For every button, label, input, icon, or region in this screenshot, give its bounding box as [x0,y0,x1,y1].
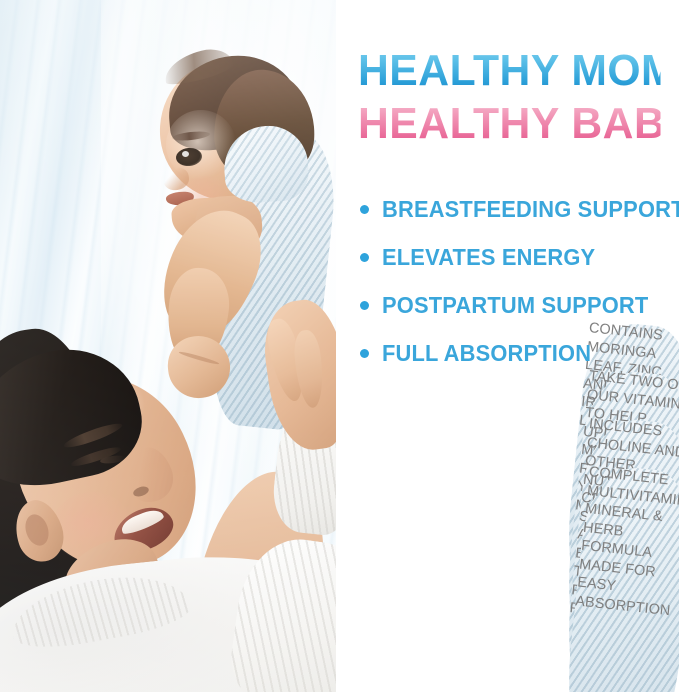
bullet-dot-icon [360,205,369,214]
headline-line-mom: HEALTHY MOM [358,44,661,97]
benefit-title: ELEVATES ENERGY [382,244,661,270]
bullet-dot-icon [360,301,369,310]
baby-eye-highlight [182,151,189,157]
benefit-item: ELEVATES ENERGY TAKE TWO OF OUR VITAMINS… [358,244,676,270]
headline: HEALTHY MOM HEALTHY BABY [358,44,670,150]
benefit-title: POSTPARTUM SUPPORT [382,292,661,318]
product-infographic: HEALTHY MOM HEALTHY BABY BREASTFEEDING S… [0,0,679,692]
mother-and-baby-photo [0,0,336,692]
benefit-list: BREASTFEEDING SUPPORT CONTAINS MORINGA L… [358,196,676,370]
headline-line-baby: HEALTHY BABY [358,97,661,150]
benefit-item: BREASTFEEDING SUPPORT CONTAINS MORINGA L… [358,196,676,222]
bullet-dot-icon [360,253,369,262]
benefit-item: FULL ABSORPTION COMPLETE MULTIVITAMIN, M… [358,340,676,366]
benefit-item: POSTPARTUM SUPPORT INCLUDES CHOLINE AND … [358,292,676,318]
benefit-title: FULL ABSORPTION [382,340,661,366]
benefit-title: BREASTFEEDING SUPPORT [382,196,661,222]
bullet-dot-icon [360,349,369,358]
text-panel: HEALTHY MOM HEALTHY BABY BREASTFEEDING S… [336,0,679,692]
